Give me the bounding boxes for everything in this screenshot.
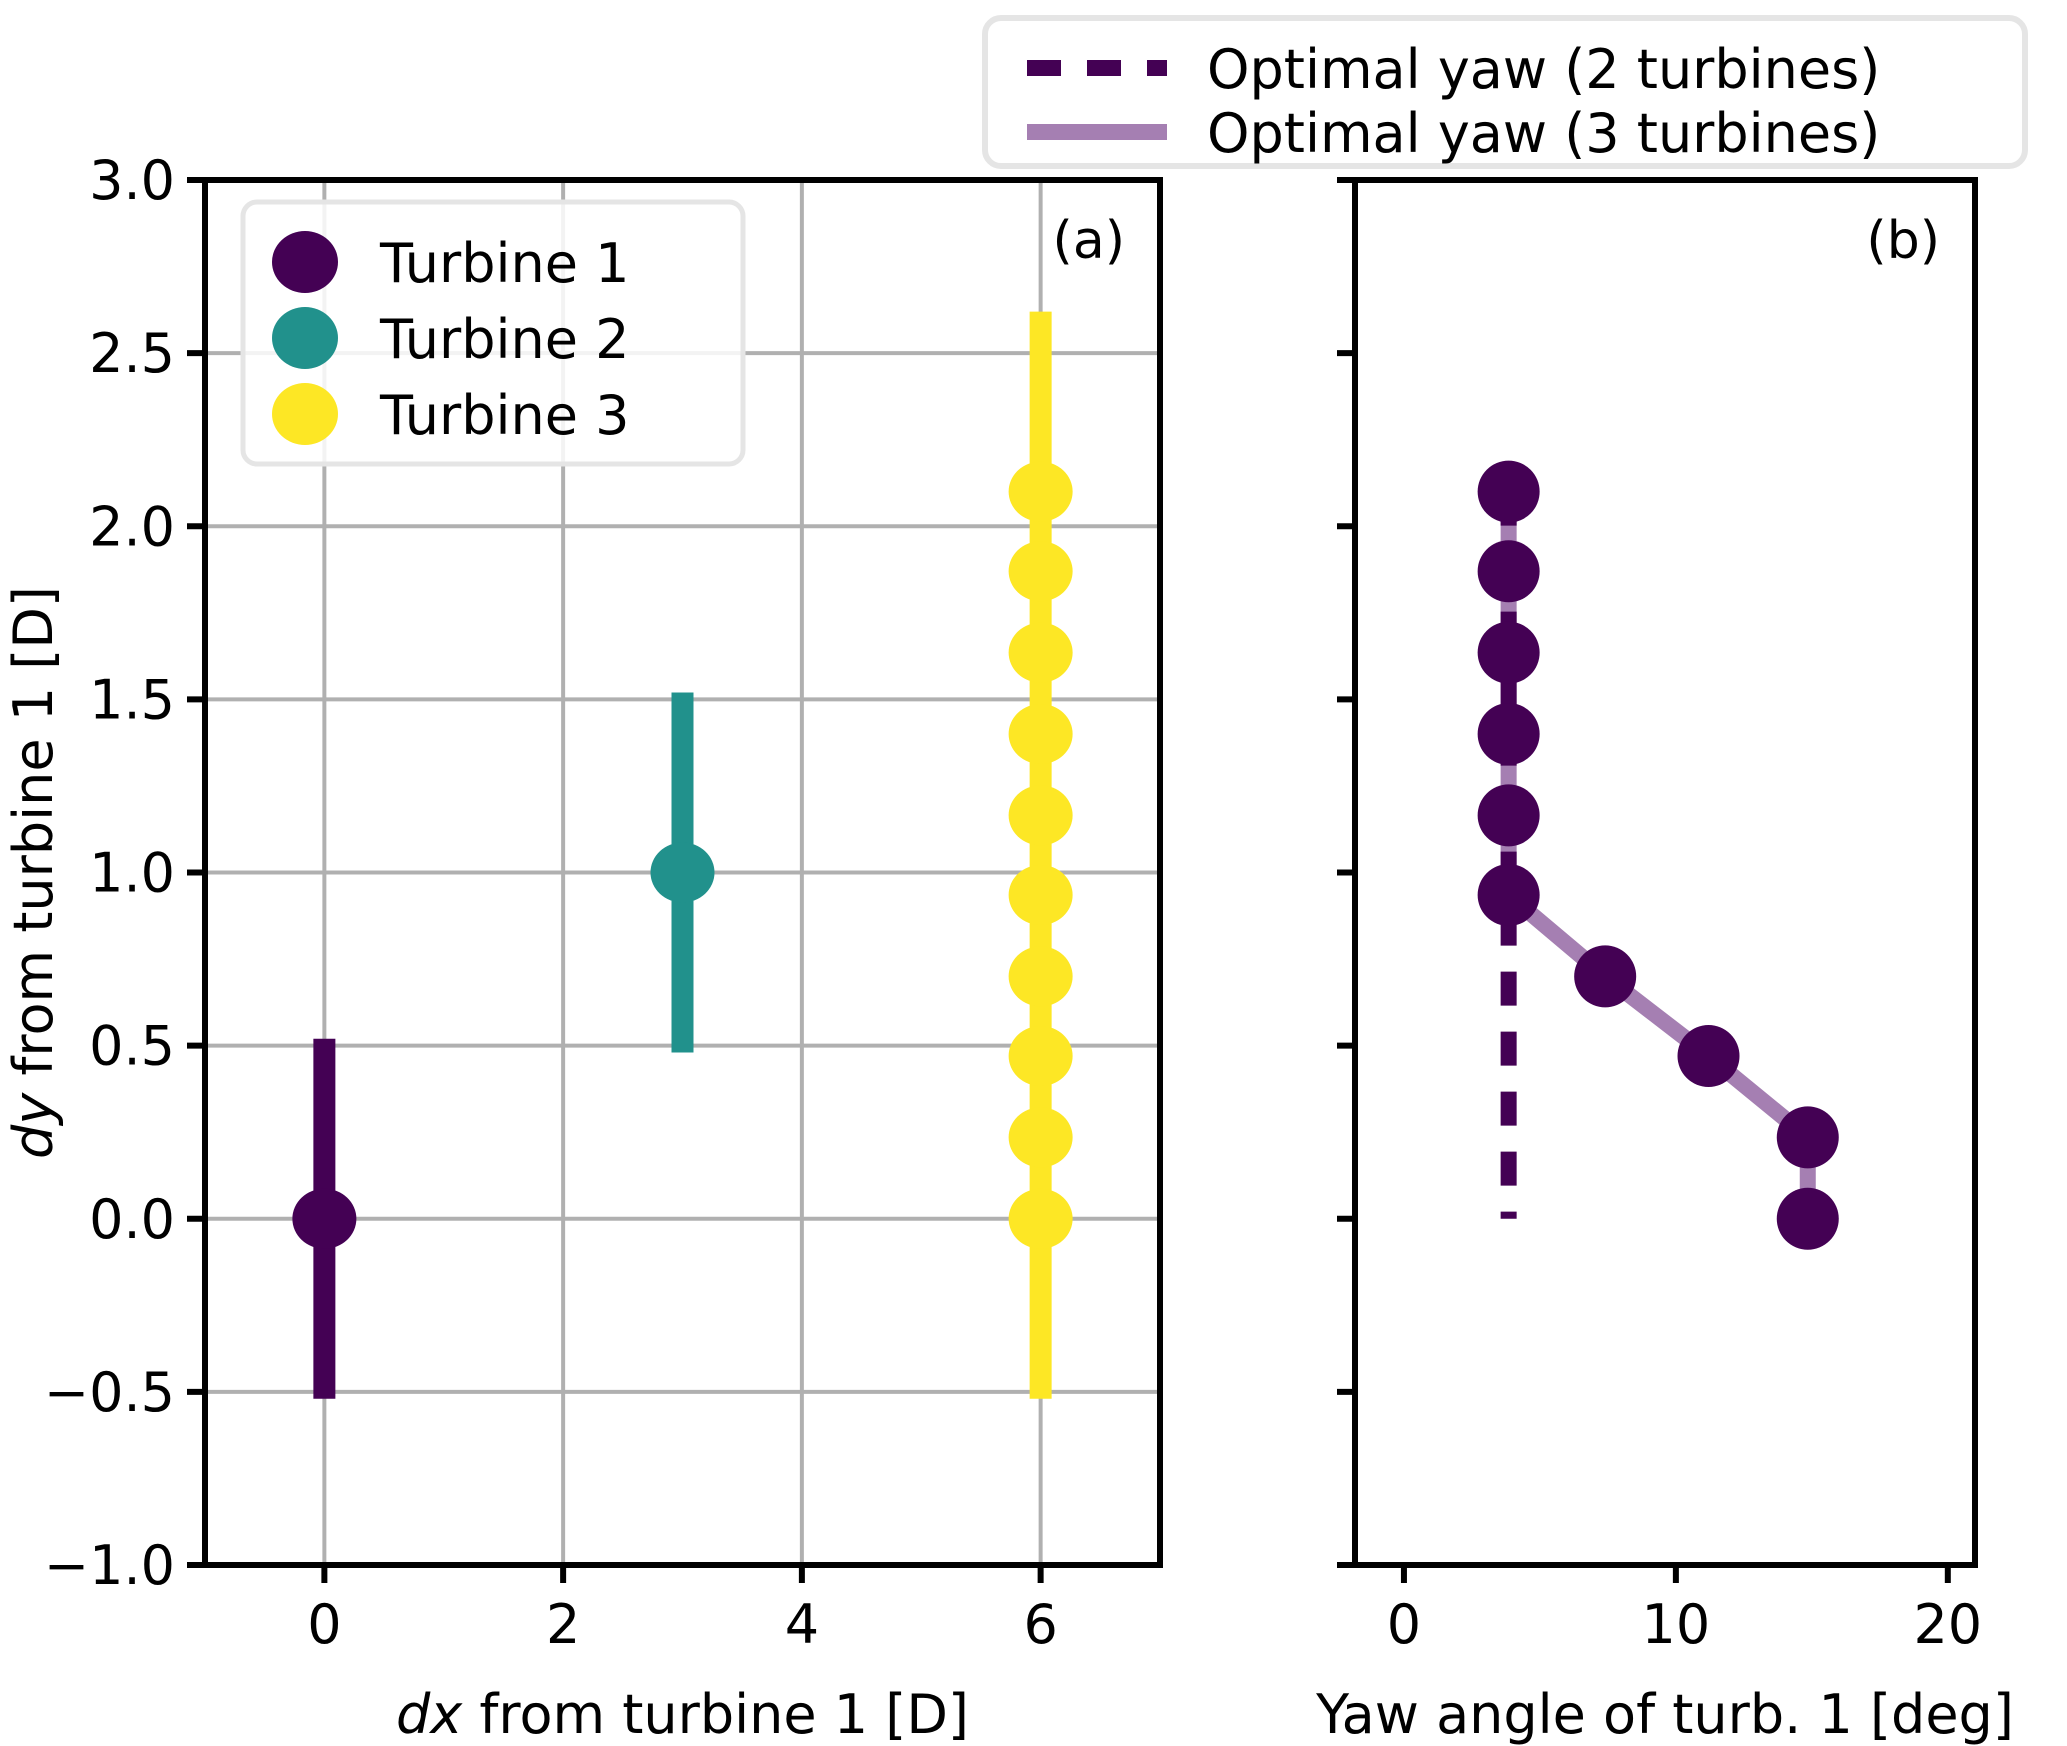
y-tick-label: −1.0	[44, 1534, 175, 1597]
turbine-marker	[292, 1189, 356, 1249]
x-tick-label: 10	[1642, 1593, 1711, 1656]
panel-a-ylabel: dy from turbine 1 [D]	[2, 586, 65, 1159]
y-tick-label: 1.0	[89, 842, 175, 905]
ylabel-italic-part: dy	[2, 1092, 65, 1159]
optimal-yaw-point	[1478, 540, 1540, 602]
panel-b: 01020Yaw angle of turb. 1 [deg](b)	[1315, 180, 2014, 1746]
legend-marker	[272, 383, 338, 445]
optimal-yaw-point	[1478, 461, 1540, 523]
panel-a: 0246−1.0−0.50.00.51.01.52.02.53.0dx from…	[2, 149, 1160, 1746]
turbine-marker	[1009, 541, 1073, 601]
xlabel-italic-part: dx	[396, 1683, 463, 1746]
top-legend-label: Optimal yaw (2 turbines)	[1207, 38, 1880, 101]
panel-a-legend: Turbine 1Turbine 2Turbine 3	[243, 202, 743, 464]
panel-b-label: (b)	[1866, 211, 1940, 271]
turbine-marker	[1009, 946, 1073, 1006]
legend-marker	[272, 231, 338, 293]
turbine-marker	[1009, 865, 1073, 925]
optimal-yaw-point	[1478, 622, 1540, 684]
x-tick-label: 4	[785, 1593, 819, 1656]
figure-root: 0246−1.0−0.50.00.51.01.52.02.53.0dx from…	[0, 0, 2067, 1746]
turbine-marker	[1009, 462, 1073, 522]
y-tick-label: 1.5	[89, 668, 175, 731]
optimal-yaw-point	[1777, 1106, 1839, 1168]
turbine-marker	[1009, 1026, 1073, 1086]
optimal-yaw-point	[1574, 945, 1636, 1007]
y-tick-label: 0.0	[89, 1188, 175, 1251]
optimal-yaw-point	[1678, 1025, 1740, 1087]
y-tick-label: 2.0	[89, 495, 175, 558]
x-tick-label: 0	[307, 1593, 341, 1656]
top-legend: Optimal yaw (2 turbines)Optimal yaw (3 t…	[985, 18, 2025, 166]
panel-a-xlabel: dx from turbine 1 [D]	[396, 1683, 969, 1746]
optimal-yaw-point	[1777, 1188, 1839, 1250]
optimal-yaw-point	[1478, 864, 1540, 926]
figure-svg: 0246−1.0−0.50.00.51.01.52.02.53.0dx from…	[0, 0, 2067, 1746]
y-tick-label: −0.5	[44, 1361, 175, 1424]
top-legend-label: Optimal yaw (3 turbines)	[1207, 102, 1880, 165]
optimal-yaw-3-line	[1509, 492, 1808, 1219]
legend-marker	[272, 307, 338, 369]
turbine-marker	[1009, 1107, 1073, 1167]
y-tick-label: 3.0	[89, 149, 175, 212]
legend-label: Turbine 2	[379, 308, 629, 371]
optimal-yaw-point	[1478, 703, 1540, 765]
turbine-marker	[651, 843, 715, 903]
xlabel-rest-part: from turbine 1 [D]	[462, 1683, 969, 1746]
panel-b-frame	[1355, 180, 1975, 1565]
turbine-marker	[1009, 785, 1073, 845]
turbine-marker	[1009, 1189, 1073, 1249]
turbine-marker	[1009, 623, 1073, 683]
y-tick-label: 2.5	[89, 322, 175, 385]
x-tick-label: 0	[1387, 1593, 1421, 1656]
x-tick-label: 2	[546, 1593, 580, 1656]
y-tick-label: 0.5	[89, 1015, 175, 1078]
panel-b-xlabel: Yaw angle of turb. 1 [deg]	[1315, 1683, 2014, 1746]
legend-label: Turbine 1	[379, 232, 629, 295]
x-tick-label: 20	[1913, 1593, 1982, 1656]
ylabel-rest-part: from turbine 1 [D]	[2, 586, 65, 1093]
x-tick-label: 6	[1023, 1593, 1057, 1656]
panel-a-label: (a)	[1053, 211, 1125, 271]
turbine-marker	[1009, 704, 1073, 764]
legend-label: Turbine 3	[379, 384, 629, 447]
optimal-yaw-point	[1478, 784, 1540, 846]
